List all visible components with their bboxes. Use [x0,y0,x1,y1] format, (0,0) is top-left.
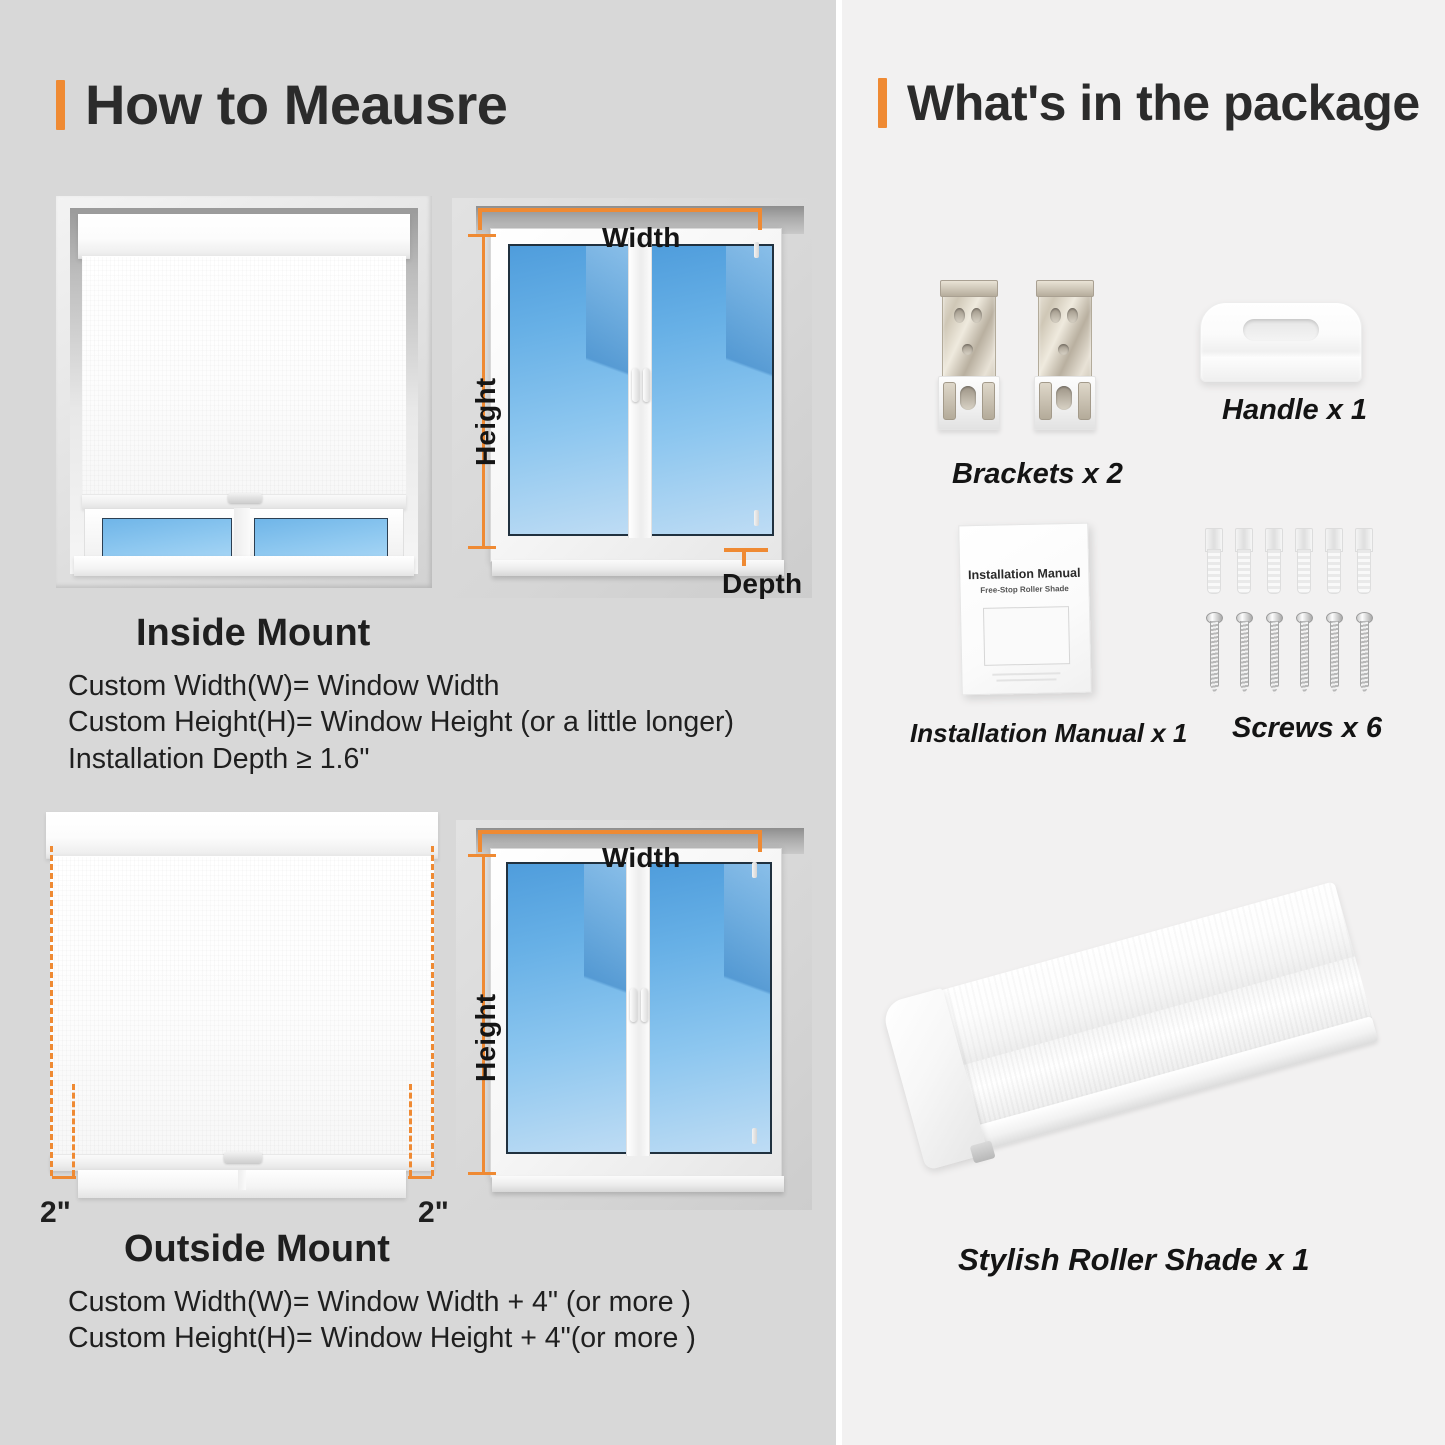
window-hinge-top [754,242,759,258]
height-label: Height [470,378,502,466]
outside-shade-pull-tab [224,1152,262,1163]
inside-mount-window-diagram: Width Height Depth [452,198,812,598]
wall-anchor-icon-2 [1234,528,1252,592]
right-panel: What's in the package [842,0,1445,1445]
anchor5-body [1327,549,1341,594]
window-handle-left-2 [630,988,637,1022]
screw3-shaft [1270,621,1279,694]
wall-anchor-icon-5 [1324,528,1342,592]
anchor6-body [1357,549,1371,594]
inside-mount-shade-illustration [56,196,432,588]
width-label-2: Width [602,842,681,874]
overhang-label-right: 2" [418,1196,449,1230]
width-measure-bar-2 [478,830,762,834]
bracket2-hole-3 [1058,344,1069,355]
bracket-slot-right [982,382,995,420]
handle-icon [1200,302,1362,382]
bracket-hole-1 [954,308,965,323]
width-measure-tick-left-2 [478,830,482,852]
height-label-2: Height [470,994,502,1082]
wall-anchor-icon-4 [1294,528,1312,592]
bracket2-top-flange [1036,280,1094,297]
manual-icon: Installation Manual Free-Stop Roller Sha… [958,523,1092,696]
bracket-top-flange [940,280,998,297]
shade-valance [78,214,410,259]
inside-mount-line-3: Installation Depth ≥ 1.6" [68,741,734,777]
height-measure-tick-bottom [468,546,496,549]
bracket2-hole-2 [1067,308,1078,323]
overhang-inner-left [72,1084,75,1176]
screw-icon-4 [1296,612,1311,694]
width-measure-tick-right [758,208,762,230]
screw-icon-2 [1236,612,1251,694]
inside-mount-line-1: Custom Width(W)= Window Width [68,668,734,704]
overhang-inner-right [409,1084,412,1176]
manual-footer-line-1 [992,672,1060,675]
screw-icon-1 [1206,612,1221,694]
wall-anchor-icon-6 [1354,528,1372,592]
window-handle-left [632,368,639,402]
width-measure-tick-right-2 [758,830,762,852]
accent-bar-icon [56,80,65,130]
bracket-icon-2 [1034,280,1094,430]
anchor4-body [1297,549,1311,594]
handle-label: Handle x 1 [1222,394,1367,427]
bracket2-hole-1 [1050,308,1061,323]
manual-cover-subtitle: Free-Stop Roller Shade [961,584,1089,596]
screw2-shaft [1240,621,1249,694]
manual-cover-title: Installation Manual [960,566,1088,583]
right-panel-heading: What's in the package [878,74,1420,132]
right-heading-text: What's in the package [907,74,1420,132]
width-measure-bar [478,208,762,212]
height-measure-tick-top [468,234,496,237]
accent-bar-icon-2 [878,78,887,128]
window-mullion [234,508,250,562]
depth-measure-tick [742,548,746,566]
bracket2-center-hole [1056,386,1072,410]
inside-mount-title: Inside Mount [136,612,370,655]
manual-label: Installation Manual x 1 [910,718,1187,749]
screw6-shaft [1360,621,1369,694]
shade-fabric [82,256,406,496]
bracket2-slot-left [1039,382,1052,420]
brackets-label: Brackets x 2 [952,458,1123,491]
window-hinge-bottom-2 [752,1128,757,1144]
depth-label: Depth [722,568,802,600]
inside-mount-text: Custom Width(W)= Window Width Custom Hei… [68,668,734,777]
outside-shade-fabric [50,856,434,1156]
screw1-shaft [1210,621,1219,694]
screw4-shaft [1300,621,1309,694]
window-handle-right-2 [641,988,648,1022]
handle-grip-slot [1243,319,1319,341]
outside-mount-text: Custom Width(W)= Window Width + 4" (or m… [68,1284,696,1357]
outside-mount-line-1: Custom Width(W)= Window Width + 4" (or m… [68,1284,696,1320]
depth-measure-bar [724,548,768,552]
screws-label: Screws x 6 [1232,712,1382,745]
window-sill [74,556,414,576]
bracket-center-hole [960,386,976,410]
wall-anchor-icon-3 [1264,528,1282,592]
screw-icon-3 [1266,612,1281,694]
outside-window-mullion [238,1170,246,1190]
window-sill-ledge-2 [492,1176,784,1192]
roller-shade-icon [878,872,1395,1229]
overhang-guide-right [431,846,434,1176]
outside-shade-valance [46,812,438,859]
overhang-arrow-left [52,1176,76,1179]
left-panel-heading: How to Meausre [56,72,507,137]
roller-shade-label: Stylish Roller Shade x 1 [958,1242,1309,1278]
window-pane-left-2 [506,862,632,1154]
left-panel: How to Meausre [0,0,836,1445]
bracket-hole-2 [971,308,982,323]
outside-mount-title: Outside Mount [124,1228,390,1271]
window-pane-right-2 [646,862,772,1154]
bracket-hole-3 [962,344,973,355]
overhang-guide-left [50,846,53,1176]
overhang-label-left: 2" [40,1196,71,1230]
wall-anchor-icon-1 [1204,528,1222,592]
outside-mount-shade-illustration [38,812,446,1204]
overhang-arrow-right [408,1176,432,1179]
shade-pull-tab [228,493,262,503]
bracket2-slot-right [1078,382,1091,420]
outside-mount-window-diagram: Width Height [456,820,812,1210]
left-heading-text: How to Meausre [85,72,507,137]
width-measure-tick-left [478,208,482,230]
window-hinge-top-2 [752,862,757,878]
outside-mount-line-2: Custom Height(H)= Window Height + 4"(or … [68,1320,696,1356]
manual-cover-figure [983,606,1070,666]
height-measure-tick-top-2 [468,854,496,857]
window-handle-right [643,368,650,402]
bracket-icon [938,280,998,430]
anchor3-body [1267,549,1281,594]
manual-footer-line-2 [996,678,1056,681]
bracket-slot-left [943,382,956,420]
screw-icon-5 [1326,612,1341,694]
inside-mount-line-2: Custom Height(H)= Window Height (or a li… [68,704,734,740]
window-pane-right [648,244,774,536]
window-pane-left [508,244,634,536]
anchor2-body [1237,549,1251,594]
infographic-page: How to Meausre [0,0,1445,1445]
width-label: Width [602,222,681,254]
window-hinge-bottom [754,510,759,526]
anchor1-body [1207,549,1221,594]
height-measure-tick-bottom-2 [468,1172,496,1175]
screw5-shaft [1330,621,1339,694]
screw-icon-6 [1356,612,1371,694]
